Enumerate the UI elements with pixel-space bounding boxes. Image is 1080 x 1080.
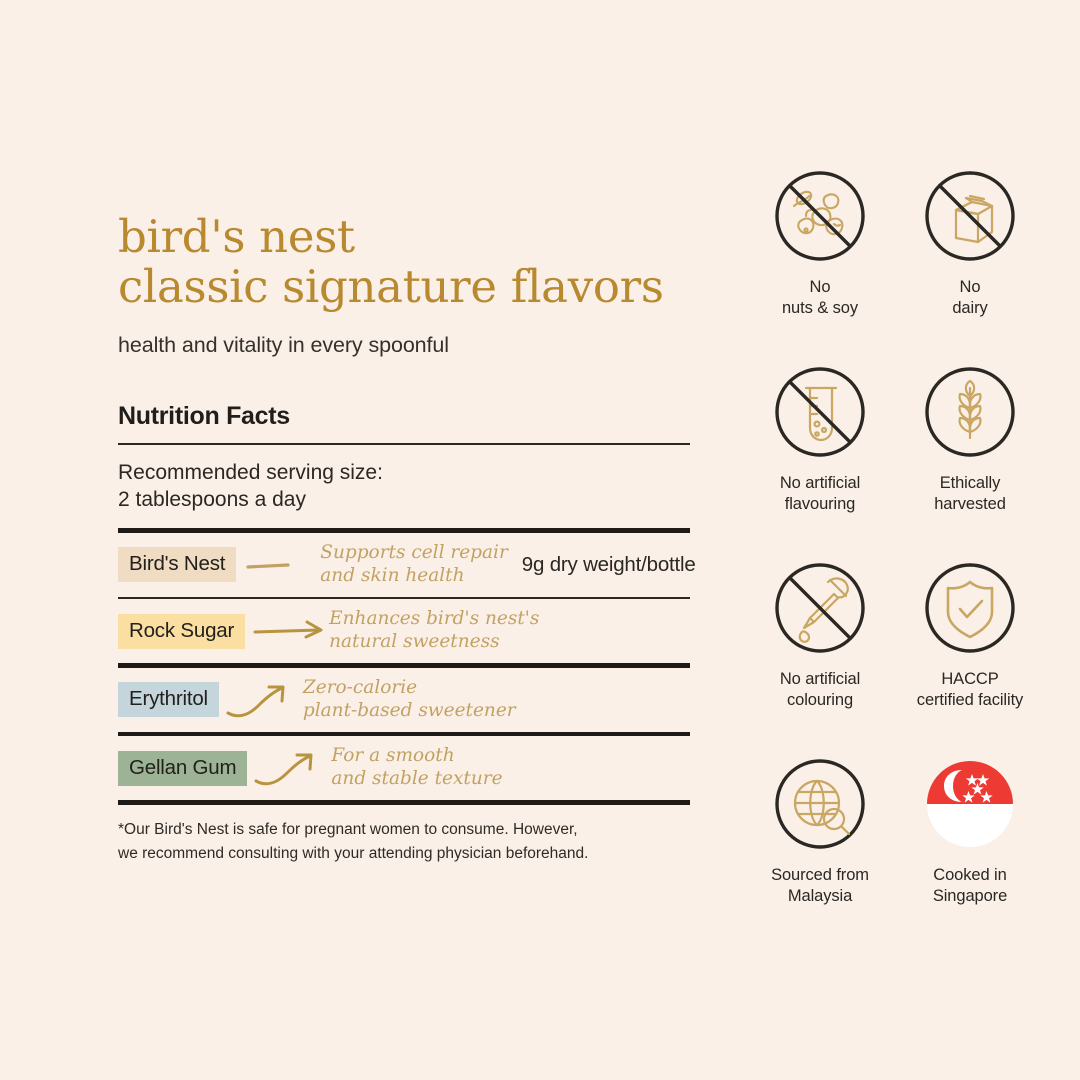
- table-row: Rock Sugar Enhances bird's nest's natura…: [118, 599, 690, 663]
- ingredient-description-rock-sugar: Enhances bird's nest's natural sweetness: [329, 608, 539, 653]
- badge-label-line-2: nuts & soy: [782, 298, 858, 319]
- infographic-page: bird's nest classic signature flavors he…: [0, 0, 1080, 1080]
- desc-line-1: Supports cell repair: [320, 542, 508, 563]
- badge-label-line-1: Sourced from: [771, 866, 869, 884]
- left-content-column: bird's nest classic signature flavors he…: [118, 212, 698, 805]
- globe-search-icon: [772, 756, 868, 852]
- badge-label-line-2: harvested: [934, 494, 1006, 515]
- desc-line-2: and stable texture: [331, 768, 502, 791]
- nutrition-facts-table: Nutrition Facts Recommended serving size…: [118, 402, 690, 805]
- ingredient-description-gellan-gum: For a smooth and stable texture: [331, 745, 502, 790]
- desc-line-1: For a smooth: [331, 745, 454, 766]
- badge-label-line-1: No: [960, 278, 981, 296]
- connector-straight-arrow: [251, 608, 329, 654]
- badge-no-nuts-soy: No nuts & soy: [745, 168, 895, 364]
- badge-label: Sourced from Malaysia: [771, 865, 869, 907]
- badge-label-line-2: Singapore: [933, 886, 1007, 907]
- table-row: Gellan Gum For a smooth and stable textu…: [118, 736, 690, 800]
- desc-line-1: Zero-calorie: [303, 677, 417, 698]
- page-subtitle: health and vitality in every spoonful: [118, 333, 698, 358]
- badge-label-line-2: flavouring: [780, 494, 860, 515]
- badge-label: No nuts & soy: [782, 277, 858, 319]
- table-row: Erythritol Zero-calorie plant-based swee…: [118, 668, 690, 732]
- badge-label: Ethically harvested: [934, 473, 1006, 515]
- serving-size-line-1: Recommended serving size:: [118, 460, 690, 487]
- badge-label-line-1: Cooked in: [933, 866, 1006, 884]
- badge-label-line-2: colouring: [780, 690, 860, 711]
- title-line-1: bird's nest: [118, 210, 355, 263]
- badge-label-line-2: Malaysia: [771, 886, 869, 907]
- badge-no-artificial-flavouring: No artificial flavouring: [745, 364, 895, 560]
- badge-label: No artificial colouring: [780, 669, 860, 711]
- badge-no-dairy: No dairy: [895, 168, 1045, 364]
- shield-check-icon: [922, 560, 1018, 656]
- milk-carton-icon: [922, 168, 1018, 264]
- ingredient-chip-erythritol: Erythritol: [118, 682, 219, 717]
- badge-label-line-1: No artificial: [780, 474, 860, 492]
- table-row: Bird's Nest Supports cell repair and ski…: [118, 533, 690, 597]
- footnote-line-1: *Our Bird's Nest is safe for pregnant wo…: [118, 821, 578, 838]
- badge-ethically-harvested: Ethically harvested: [895, 364, 1045, 560]
- ingredient-chip-birds-nest: Bird's Nest: [118, 547, 236, 582]
- ingredient-description-birds-nest: Supports cell repair and skin health: [320, 542, 508, 587]
- badge-label-line-1: No: [810, 278, 831, 296]
- ingredient-description-erythritol: Zero-calorie plant-based sweetener: [303, 677, 516, 722]
- badge-no-artificial-colouring: No artificial colouring: [745, 560, 895, 756]
- badge-haccp-certified: HACCP certified facility: [895, 560, 1045, 756]
- singapore-flag-icon: [922, 756, 1018, 852]
- desc-line-2: natural sweetness: [329, 631, 539, 654]
- badge-sourced-from-malaysia: Sourced from Malaysia: [745, 756, 895, 952]
- connector-dash: [242, 542, 320, 588]
- badge-label: No dairy: [952, 277, 987, 319]
- serving-size-block: Recommended serving size: 2 tablespoons …: [118, 445, 690, 528]
- badge-label: No artificial flavouring: [780, 473, 860, 515]
- ingredient-chip-rock-sugar: Rock Sugar: [118, 614, 245, 649]
- badge-label-line-1: No artificial: [780, 670, 860, 688]
- connector-curved-arrow: [225, 677, 303, 723]
- certification-badge-grid: No nuts & soy: [745, 168, 1045, 952]
- title-line-2: classic signature flavors: [118, 262, 698, 312]
- serving-size-line-2: 2 tablespoons a day: [118, 487, 690, 514]
- desc-line-1: Enhances bird's nest's: [329, 608, 539, 629]
- peanuts-nuts-icon: [772, 168, 868, 264]
- desc-line-2: and skin health: [320, 565, 508, 588]
- badge-label-line-2: certified facility: [917, 690, 1023, 711]
- desc-line-2: plant-based sweetener: [303, 700, 516, 723]
- table-bottom-divider: [118, 800, 690, 805]
- ingredient-chip-gellan-gum: Gellan Gum: [118, 751, 247, 786]
- footnote: *Our Bird's Nest is safe for pregnant wo…: [118, 818, 718, 865]
- nutrition-facts-heading: Nutrition Facts: [118, 402, 690, 443]
- badge-label: HACCP certified facility: [917, 669, 1023, 711]
- wheat-stalk-icon: [922, 364, 1018, 460]
- connector-curved-arrow: [253, 745, 331, 791]
- badge-label-line-1: Ethically: [940, 474, 1001, 492]
- badge-label-line-1: HACCP: [941, 670, 998, 688]
- badge-label-line-2: dairy: [952, 298, 987, 319]
- dropper-icon: [772, 560, 868, 656]
- page-title: bird's nest classic signature flavors: [118, 212, 698, 313]
- badge-label: Cooked in Singapore: [933, 865, 1007, 907]
- test-tube-icon: [772, 364, 868, 460]
- footnote-line-2: we recommend consulting with your attend…: [118, 842, 718, 866]
- badge-cooked-in-singapore: Cooked in Singapore: [895, 756, 1045, 952]
- ingredient-value-birds-nest: 9g dry weight/bottle: [508, 553, 696, 577]
